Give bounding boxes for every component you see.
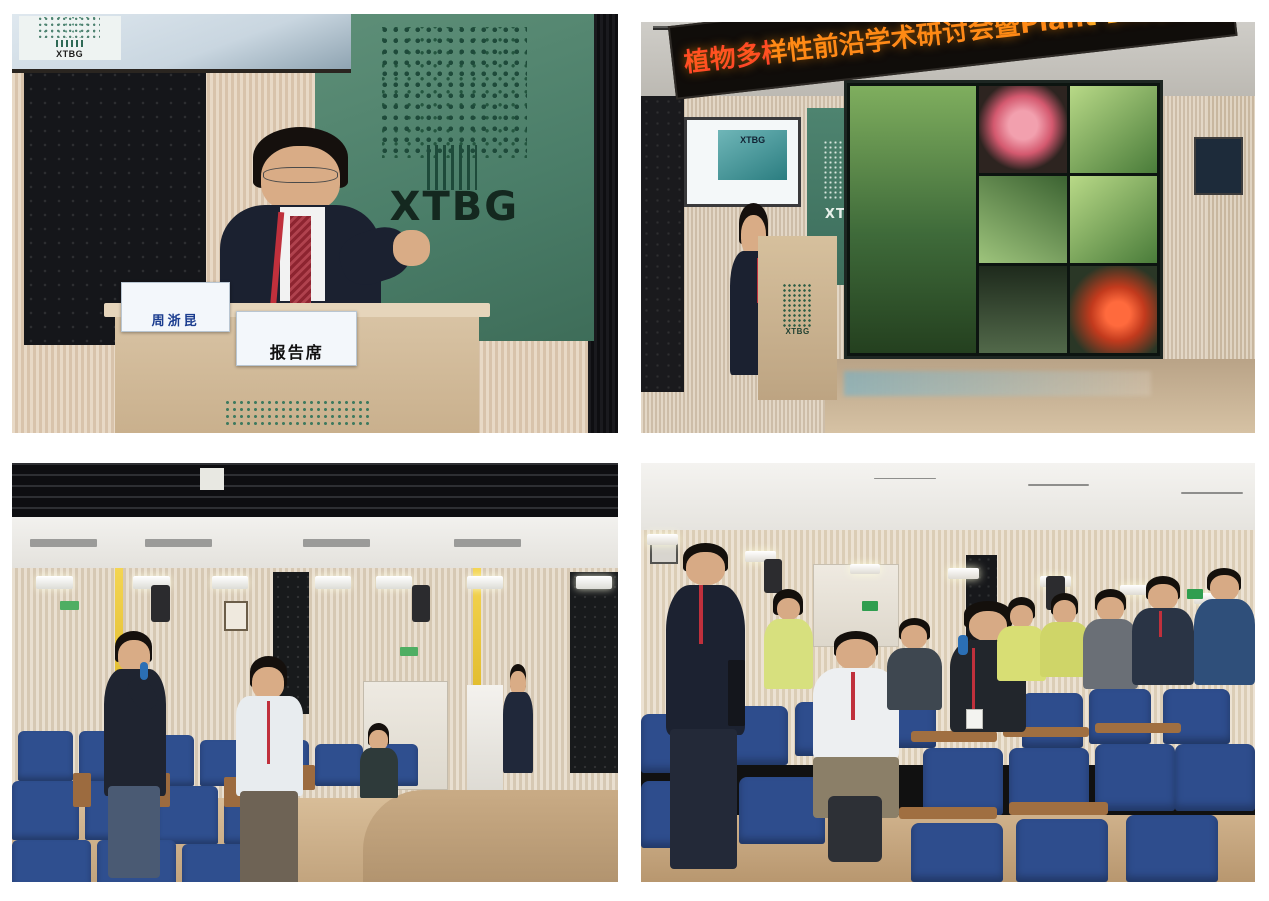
audience-member <box>997 597 1046 681</box>
perforated-panel <box>570 572 618 773</box>
ceiling-vent <box>454 539 521 547</box>
led-photo-flower <box>979 86 1066 173</box>
led-photo-branch <box>1070 176 1157 263</box>
white-podium <box>467 685 503 790</box>
photo-collage: XTBG XTBG <box>0 0 1269 901</box>
ceiling-lamp <box>948 568 979 579</box>
audience-member <box>1083 589 1138 690</box>
photo-bottom-left[interactable] <box>12 463 618 882</box>
ceiling-lamp <box>36 576 72 589</box>
ceiling <box>641 463 1255 530</box>
ceiling-lamp <box>576 576 612 589</box>
microphone-icon <box>958 635 968 655</box>
lanyard <box>699 585 703 644</box>
ceiling-lamp <box>467 576 503 589</box>
upper-balcony <box>12 463 618 517</box>
screen-xtbg-logo: XTBG <box>19 16 121 60</box>
perforated-panel-left <box>641 96 684 392</box>
projection-screen: XTBG <box>12 14 351 73</box>
standing-delegate-white-shirt <box>236 656 303 882</box>
backpack-icon <box>828 796 881 861</box>
ceiling-vent <box>1181 492 1242 494</box>
standing-delegate-with-mic <box>103 631 170 874</box>
lectern: XTBG <box>758 236 838 400</box>
ceiling-vent <box>874 478 935 480</box>
preview-monitor: XTBG <box>684 117 801 207</box>
ceiling-lamp <box>850 564 881 575</box>
audience-member <box>1194 568 1255 685</box>
wall-picture-frame <box>224 601 248 630</box>
floor-reflection <box>844 371 1151 396</box>
organizer-trousers <box>670 729 737 870</box>
name-badge <box>966 709 984 729</box>
delegate-trousers <box>108 786 160 878</box>
attendee-head <box>836 639 876 670</box>
speaker-hand <box>393 230 430 265</box>
audience-member-standing-back <box>764 589 813 690</box>
ceiling <box>12 517 618 567</box>
monitor-logo-wordmark: XTBG <box>740 135 765 145</box>
microphone-icon <box>140 662 148 680</box>
led-photo-tree <box>850 86 977 353</box>
side-monitor <box>1194 137 1243 195</box>
tree-trunk-icon <box>56 40 82 47</box>
attendee-head <box>369 730 388 750</box>
stage-platform <box>363 790 618 882</box>
ceiling-lamp <box>315 576 351 589</box>
audience-member <box>1040 593 1089 677</box>
led-photo-vine <box>979 176 1066 263</box>
audience-member <box>1132 576 1193 685</box>
tree-dots-icon <box>39 17 100 37</box>
led-video-wall <box>844 80 1163 359</box>
balcony-railing <box>12 463 618 517</box>
lanyard <box>267 701 270 764</box>
lanyard <box>851 672 855 720</box>
lectern-dot-logo <box>224 399 369 426</box>
balcony-window <box>200 468 224 490</box>
exit-sign-icon <box>60 601 78 609</box>
chairperson-figure <box>503 664 533 773</box>
photo-top-right[interactable]: XTBG XTBG <box>641 22 1255 433</box>
delegate2-head <box>252 667 284 699</box>
lectern-wordmark: XTBG <box>785 327 809 336</box>
audience-member <box>887 618 942 710</box>
seated-attendee <box>357 723 399 824</box>
exit-sign-icon <box>400 647 418 655</box>
stage-floor <box>825 359 1255 433</box>
ceiling-vent <box>30 539 97 547</box>
led-photo-leaf <box>1070 86 1157 173</box>
led-photo-hands <box>979 266 1066 353</box>
tree-dots-icon <box>782 283 813 327</box>
ceiling-vent <box>145 539 212 547</box>
photo-top-left[interactable]: XTBG XTBG <box>12 14 618 433</box>
delegate2-trousers <box>240 791 299 882</box>
wall-speaker <box>151 585 169 623</box>
folder-icon <box>728 660 746 725</box>
wall-speaker <box>412 585 430 623</box>
photo-bottom-right[interactable] <box>641 463 1255 882</box>
lectern-xtbg-logo: XTBG <box>778 272 816 348</box>
organizer-head <box>686 552 724 585</box>
screen-logo-wordmark: XTBG <box>56 49 83 59</box>
attendee-jacket <box>360 748 398 798</box>
glasses-icon <box>263 167 337 183</box>
speaker-necktie <box>290 216 311 310</box>
podium-sign: 报告席 <box>236 311 357 365</box>
chair-suit <box>503 692 533 773</box>
speaker-nameplate: 周浙昆 <box>121 282 230 332</box>
ceiling-lamp <box>212 576 248 589</box>
standing-organizer <box>666 543 746 870</box>
ceiling-vent <box>1028 484 1089 486</box>
lanyard <box>972 648 975 708</box>
ceiling-lamp <box>376 576 412 589</box>
led-photo-redflower <box>1070 266 1157 353</box>
ceiling-vent <box>303 539 370 547</box>
chair-head <box>510 671 525 695</box>
exit-sign-icon <box>862 601 878 611</box>
